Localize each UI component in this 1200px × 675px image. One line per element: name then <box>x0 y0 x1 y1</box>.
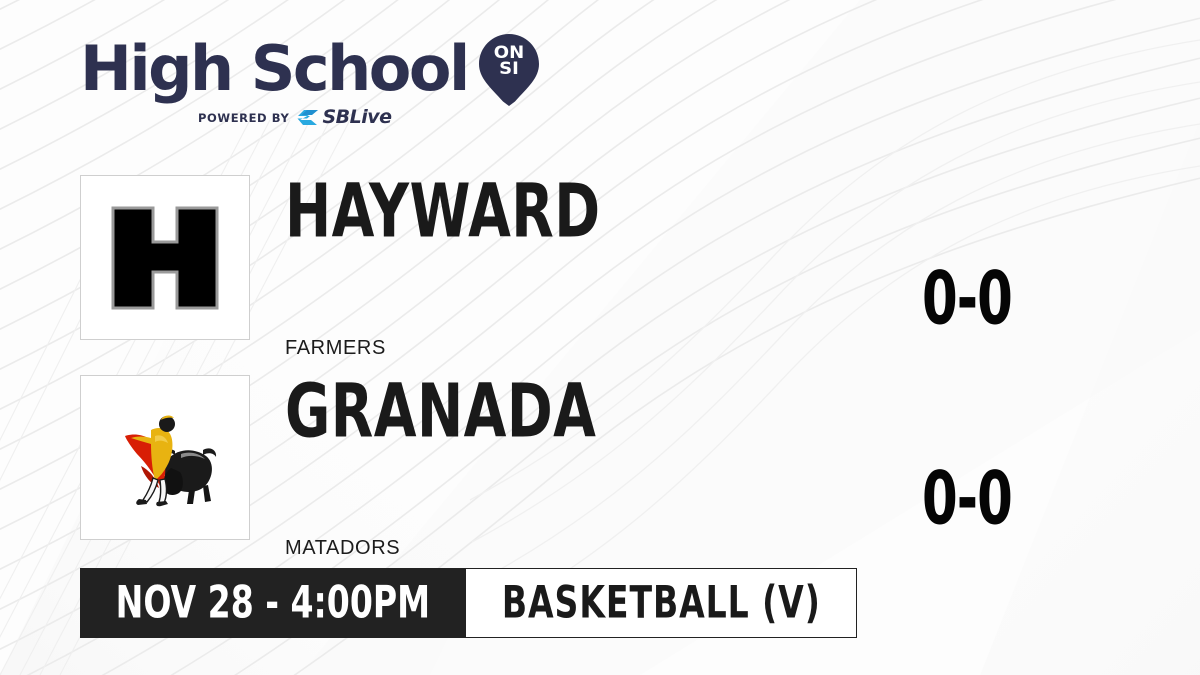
powered-by-row: POWERED BY SBLive <box>198 108 520 127</box>
team-text-hayward: HAYWARD <box>285 175 624 241</box>
matchup-sport-panel: BASKETBALL (V) <box>466 568 858 638</box>
team-text-granada: GRANADA <box>285 375 620 441</box>
location-pin-icon: ON SI <box>478 33 520 107</box>
team-record-granada: 0-0 <box>922 462 1012 535</box>
team-logo-granada <box>80 375 250 540</box>
team-record-hayward: 0-0 <box>922 262 1012 335</box>
matchup-datetime-panel: NOV 28 - 4:00PM <box>80 568 466 638</box>
pin-label-line2: SI <box>476 61 542 77</box>
sblive-wordmark-bold: SBL <box>322 106 361 128</box>
pin-label: ON SI <box>478 45 540 77</box>
sblive-wordmark: SBLive <box>322 108 391 127</box>
matchup-sport: BASKETBALL (V) <box>502 581 821 626</box>
brand-wordmark: High School <box>80 38 468 100</box>
team-name-granada: GRANADA <box>285 375 596 449</box>
sblive-s-mark-icon <box>297 109 319 126</box>
matchup-datetime: NOV 28 - 4:00PM <box>116 581 430 626</box>
granada-matador-logo <box>111 406 219 510</box>
team-mascot-granada: MATADORS <box>285 537 400 560</box>
matchup-graphic: High School ON SI POWERED BY SBLive <box>0 0 1200 675</box>
hayward-block-h-logo <box>109 204 221 312</box>
powered-by-label: POWERED BY <box>198 111 289 125</box>
team-logo-hayward <box>80 175 250 340</box>
brand-lockup: High School ON SI POWERED BY SBLive <box>80 34 520 134</box>
team-name-hayward: HAYWARD <box>285 175 601 249</box>
sblive-wordmark-italic: ive <box>361 106 391 128</box>
team-mascot-hayward: FARMERS <box>285 337 386 360</box>
sblive-logo: SBLive <box>297 108 391 127</box>
matchup-bar: NOV 28 - 4:00PM BASKETBALL (V) <box>80 568 857 638</box>
